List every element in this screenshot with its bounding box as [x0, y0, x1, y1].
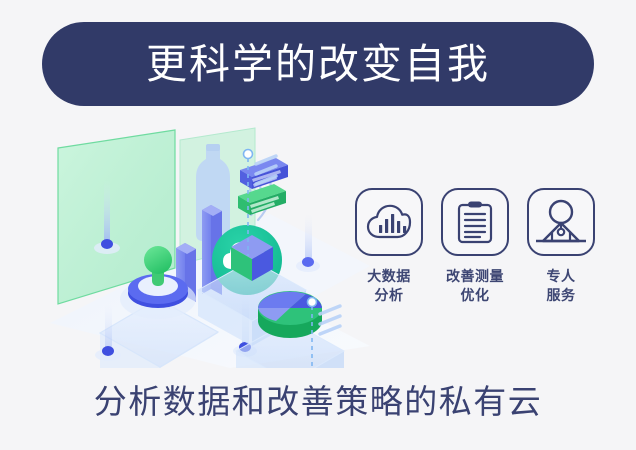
support-person-icon [527, 188, 595, 256]
hero-illustration [40, 118, 370, 368]
feature-list: 大数据 分析 改善测量 优化 [352, 188, 598, 305]
feature-item-support[interactable]: 专人 服务 [524, 188, 598, 305]
clipboard-icon [441, 188, 509, 256]
feature-label-measurement: 改善测量 优化 [446, 267, 504, 305]
cloud-chart-icon [355, 188, 423, 256]
footer-tagline: 分析数据和改善策略的私有云 [0, 382, 636, 422]
feature-label-support: 专人 服务 [547, 267, 576, 305]
feature-label-big-data: 大数据 分析 [367, 267, 411, 305]
feature-item-big-data[interactable]: 大数据 分析 [352, 188, 426, 305]
feature-item-measurement[interactable]: 改善测量 优化 [438, 188, 512, 305]
page-title: 更科学的改变自我 [146, 44, 490, 85]
page-title-banner: 更科学的改变自我 [42, 22, 594, 106]
